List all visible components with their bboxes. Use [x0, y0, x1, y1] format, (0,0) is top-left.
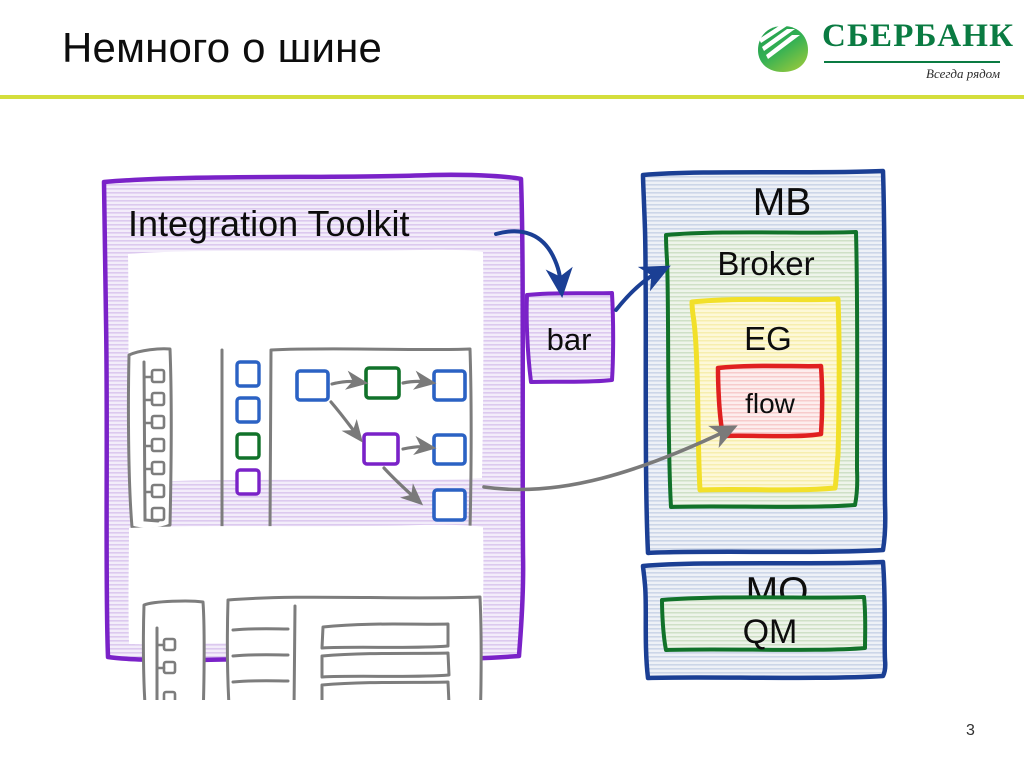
palette-node-1[interactable] — [237, 362, 259, 386]
flow-box[interactable]: flow — [718, 366, 822, 436]
architecture-diagram: Integration Toolkit — [0, 100, 1024, 700]
palette-node-3[interactable] — [237, 434, 259, 458]
eg-label: EG — [744, 320, 792, 357]
flow-label: flow — [745, 388, 796, 419]
mb-box[interactable]: MB Broker EG flow — [643, 171, 885, 553]
palette-node-4[interactable] — [237, 470, 259, 494]
mapping-editor-panel[interactable] — [227, 597, 481, 700]
bar-box[interactable]: bar — [527, 293, 614, 382]
qm-box[interactable]: QM — [662, 597, 865, 651]
flow-node-output-b[interactable] — [434, 435, 465, 464]
slide-header: Немного о шине СБЕРБАНК Всегда рядом — [0, 0, 1024, 100]
flow-node-input[interactable] — [297, 371, 328, 400]
brand-underline — [824, 61, 1000, 63]
qm-label: QM — [743, 613, 798, 651]
bar-label: bar — [547, 322, 592, 357]
canvas-arrow-2 — [403, 381, 427, 383]
flow-node-router[interactable] — [364, 434, 398, 464]
sberbank-leaf-icon — [752, 16, 814, 78]
project-tree-panel[interactable] — [128, 349, 171, 529]
mq-box[interactable]: MQ QM — [643, 562, 885, 678]
palette-node-2[interactable] — [237, 398, 259, 422]
brand-tagline: Всегда рядом — [824, 66, 1000, 82]
eg-box[interactable]: EG flow — [692, 299, 839, 490]
properties-tree-panel[interactable] — [143, 601, 204, 700]
broker-box[interactable]: Broker EG flow — [666, 232, 857, 507]
page-title: Немного о шине — [62, 24, 382, 72]
flow-node-output-a[interactable] — [434, 371, 465, 400]
page-number: 3 — [966, 722, 975, 740]
sberbank-logo: СБЕРБАНК Всегда рядом — [752, 16, 1002, 88]
header-divider — [0, 95, 1024, 99]
mb-label: MB — [753, 181, 812, 224]
brand-name: СБЕРБАНК — [822, 18, 1014, 55]
integration-toolkit-box[interactable]: Integration Toolkit — [104, 175, 523, 700]
flow-node-output-c[interactable] — [434, 490, 465, 520]
broker-label: Broker — [717, 245, 814, 282]
toolkit-title: Integration Toolkit — [128, 203, 410, 244]
flow-node-compute[interactable] — [366, 368, 399, 398]
toolkit-upper-surface — [128, 250, 483, 482]
